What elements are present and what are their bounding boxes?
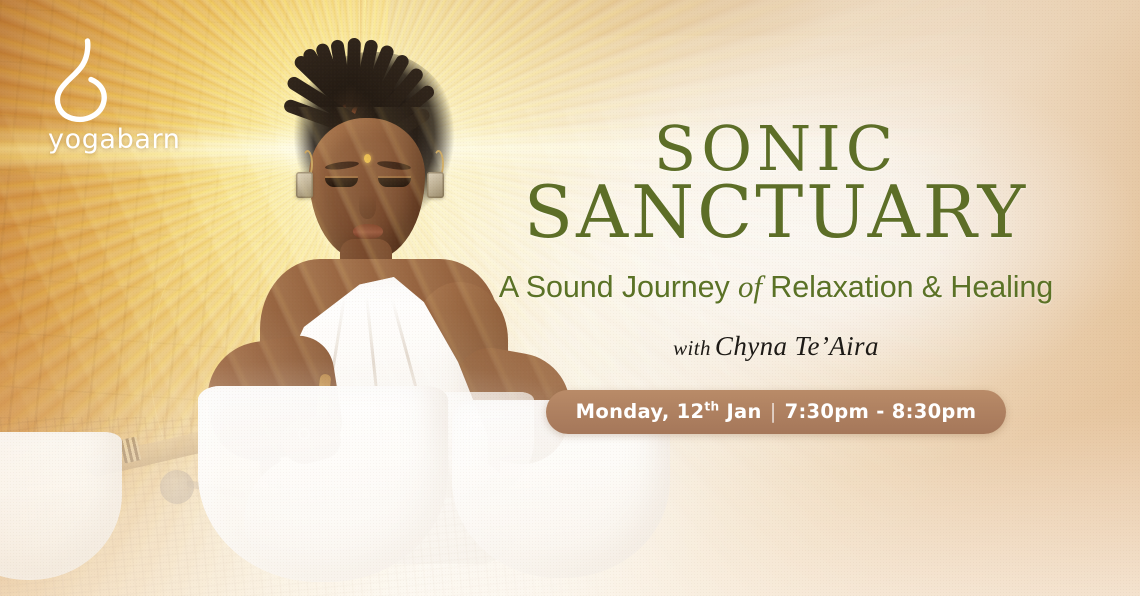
event-subtitle: A Sound Journey of Relaxation & Healing — [452, 269, 1100, 305]
presenter-name: Chyna Te’Aira — [715, 331, 879, 361]
schedule-month: Jan — [727, 400, 762, 423]
eyebrow-right — [377, 160, 412, 172]
earring-ornament — [427, 172, 444, 198]
eye-left-closed — [325, 178, 358, 187]
schedule-date-number: 12 — [677, 400, 705, 423]
eyebrow-left — [325, 160, 360, 171]
schedule-day: Monday, — [576, 400, 670, 423]
page-title: SONIC SANCTUARY — [452, 120, 1100, 245]
subtitle-part-2: Relaxation & Healing — [762, 270, 1053, 304]
logo-wordmark: yogabarn — [48, 126, 196, 153]
schedule-separator: | — [762, 400, 785, 423]
title-line-2: SANCTUARY — [452, 179, 1100, 245]
earring-right — [427, 172, 444, 198]
lips — [353, 224, 383, 239]
schedule-date-ordinal: th — [704, 400, 719, 414]
presenter-line: withChyna Te’Aira — [452, 331, 1100, 362]
earring-left — [296, 172, 313, 198]
event-promo-banner: yogabarn SONIC SANCTUARY A Sound Journey… — [0, 0, 1140, 596]
event-copy-block: SONIC SANCTUARY A Sound Journey of Relax… — [452, 120, 1100, 434]
forehead-bindi — [364, 154, 371, 163]
subtitle-emphasis: of — [738, 269, 762, 304]
title-line-1: SONIC — [452, 120, 1100, 177]
yogabarn-logo[interactable]: yogabarn — [46, 38, 196, 153]
presenter-prefix: with — [673, 336, 711, 360]
subtitle-part-1: A Sound Journey — [499, 270, 738, 304]
earring-ornament — [296, 172, 313, 198]
nose — [359, 194, 376, 219]
schedule-time: 7:30pm - 8:30pm — [785, 400, 977, 423]
eye-right-closed — [378, 178, 411, 187]
yogabarn-flame-icon — [46, 38, 120, 124]
schedule-badge[interactable]: Monday, 12th Jan|7:30pm - 8:30pm — [546, 390, 1007, 434]
